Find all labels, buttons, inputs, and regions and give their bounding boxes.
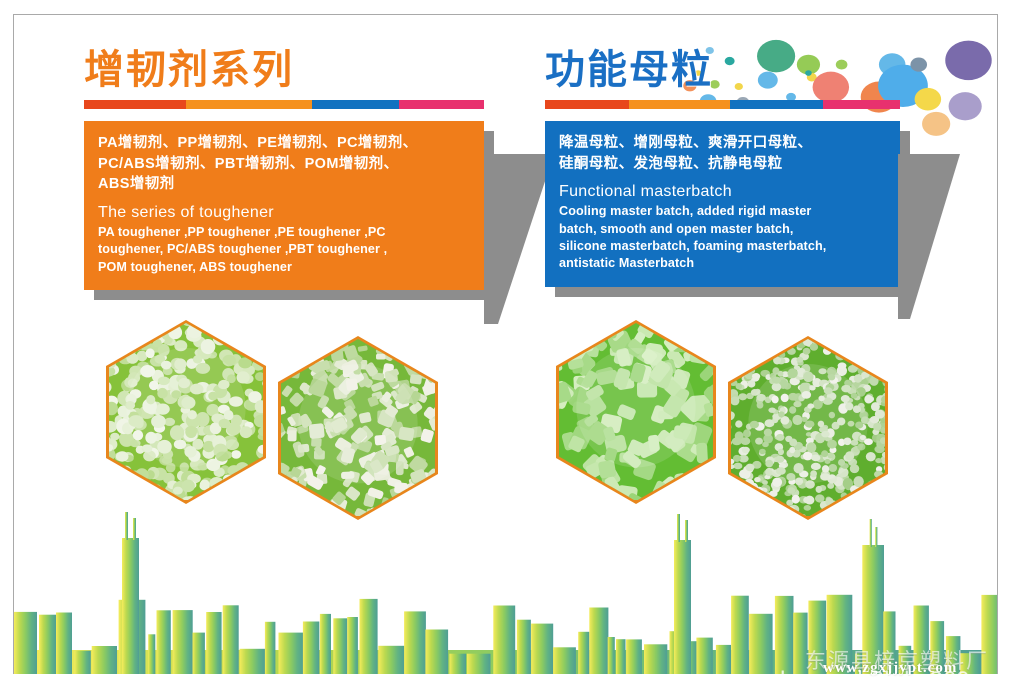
pellet <box>873 495 881 501</box>
pellet <box>752 344 762 353</box>
pellet <box>210 498 224 500</box>
pellet <box>128 330 138 337</box>
pellet <box>121 466 131 476</box>
pellet <box>418 365 429 376</box>
pellet <box>213 323 228 334</box>
pellet <box>173 487 183 495</box>
pellet <box>758 500 765 505</box>
pellet <box>116 499 126 500</box>
pellet <box>743 350 752 357</box>
pellet <box>132 325 141 334</box>
pellet <box>559 328 575 349</box>
pellet <box>109 326 116 339</box>
pellet <box>559 323 561 339</box>
pellet <box>610 323 630 324</box>
pellet <box>738 393 747 400</box>
pellet <box>737 349 747 359</box>
pellet <box>255 346 263 353</box>
pellet <box>833 339 840 346</box>
pellet <box>109 469 122 481</box>
pellet <box>767 499 777 507</box>
pellet <box>849 498 858 506</box>
pellet <box>222 323 235 331</box>
pellet <box>792 495 800 504</box>
pellet <box>740 437 750 445</box>
pellet <box>810 343 818 350</box>
pellet <box>223 486 234 494</box>
bubble-23 <box>922 112 950 136</box>
pellet <box>754 477 761 482</box>
pellet <box>231 450 241 459</box>
pellet <box>848 500 857 507</box>
pellet <box>296 339 312 352</box>
pellet <box>866 347 876 356</box>
toughener-cn-line-1: PA增韧剂、PP增韧剂、PE增韧剂、PC增韧剂、 <box>98 133 470 154</box>
pellet <box>881 351 885 359</box>
pellet <box>421 367 433 380</box>
pellet <box>236 323 251 333</box>
pellet <box>139 483 153 496</box>
pellet <box>116 451 129 461</box>
pellet <box>141 337 150 344</box>
pellet <box>217 323 232 327</box>
bubble-20 <box>915 88 942 111</box>
pellet <box>704 468 713 481</box>
pellet <box>827 483 834 489</box>
pellet <box>112 476 121 484</box>
pellet-photo-white-round <box>109 323 263 500</box>
pellet <box>752 499 759 506</box>
pellet <box>373 339 385 349</box>
pellet <box>861 372 870 378</box>
pellet <box>691 338 710 356</box>
pellet <box>140 492 149 499</box>
pellet <box>253 493 263 500</box>
pellet <box>248 485 263 499</box>
pellet-photo-white-granules <box>731 339 885 516</box>
pellet <box>731 498 741 508</box>
pellet <box>214 487 224 495</box>
pellet <box>187 324 202 338</box>
pellet <box>883 486 885 492</box>
pellet-photo-white-cylinders <box>281 339 435 516</box>
pellet <box>733 463 742 470</box>
pellet <box>209 491 221 499</box>
pellet-highlight <box>748 364 867 483</box>
pellet <box>876 360 882 366</box>
textbox-masterbatch: 降温母粒、增刚母粒、爽滑开口母粒、 硅酮母粒、发泡母粒、抗静电母粒 Functi… <box>545 121 900 287</box>
pellet <box>771 339 779 343</box>
pellet <box>230 490 239 498</box>
pellet <box>247 326 256 333</box>
pellet <box>410 374 423 385</box>
pellet <box>739 360 747 367</box>
pellet <box>872 339 878 343</box>
pellet <box>857 339 865 344</box>
pellet <box>314 339 328 349</box>
pellet <box>674 473 688 494</box>
pellet <box>854 374 863 382</box>
colorbar-toughener <box>84 100 484 109</box>
pellet <box>738 490 748 498</box>
masterbatch-en-line-2: batch, smooth and open master batch, <box>559 221 886 238</box>
pellet <box>691 496 712 500</box>
pellet <box>731 353 732 359</box>
pellet <box>779 352 786 358</box>
pellet <box>109 323 118 327</box>
pellet <box>781 339 789 346</box>
pellet <box>772 477 782 487</box>
pellet <box>661 491 682 500</box>
pellet <box>111 465 121 472</box>
pellet <box>237 488 249 497</box>
pellet <box>148 484 163 499</box>
hex-inner <box>109 323 263 501</box>
pellet <box>559 485 567 501</box>
pellet <box>736 479 746 486</box>
pellet <box>288 430 297 441</box>
pellet <box>883 340 885 347</box>
masterbatch-en-heading: Functional masterbatch <box>559 180 886 203</box>
pellet <box>764 342 771 349</box>
pellet <box>756 487 763 493</box>
pellet <box>731 370 735 375</box>
colorbar-seg-1 <box>84 100 186 109</box>
pellet <box>668 323 690 342</box>
pellet <box>251 348 263 359</box>
colorbar-seg-2 <box>186 100 312 109</box>
pellet <box>258 472 263 480</box>
hex-inner <box>731 339 885 517</box>
pellet <box>416 339 432 354</box>
pellet <box>736 345 746 355</box>
pellet <box>116 340 125 349</box>
pellet <box>250 497 259 500</box>
pellet <box>736 383 743 389</box>
pellet <box>749 339 759 343</box>
pellet <box>122 498 131 500</box>
pellet <box>659 323 676 339</box>
pellet <box>260 469 263 480</box>
pellet <box>875 458 882 463</box>
pellet <box>876 371 885 381</box>
pellet <box>816 486 823 493</box>
pellet <box>873 362 883 370</box>
pellet-highlight <box>126 348 245 467</box>
pellet <box>743 348 752 357</box>
pellet <box>648 499 666 501</box>
pellet <box>881 476 885 483</box>
toughener-en-heading: The series of toughener <box>98 201 470 224</box>
pellet <box>221 338 230 345</box>
pellet <box>699 466 713 480</box>
panel-title-toughener: 增韧剂系列 <box>84 50 484 90</box>
pellet <box>739 491 745 497</box>
pellet <box>209 477 223 489</box>
pellet <box>253 472 263 481</box>
pellet <box>225 483 235 492</box>
pellet <box>741 501 749 509</box>
pellet <box>757 492 767 499</box>
pellet <box>787 348 796 355</box>
pellet <box>132 323 145 327</box>
pellet <box>126 324 139 338</box>
pellet <box>116 348 125 358</box>
pellet <box>756 498 765 507</box>
pellet <box>749 488 757 494</box>
pellet <box>835 342 842 349</box>
pellet <box>134 334 145 345</box>
pellet <box>756 492 765 500</box>
pellet <box>742 447 750 453</box>
bubble-22 <box>949 92 982 120</box>
pellet <box>776 339 783 342</box>
pellet <box>420 368 432 377</box>
pellet <box>324 339 342 344</box>
pellet <box>869 487 876 492</box>
pellet <box>864 395 873 404</box>
pellet <box>735 499 742 506</box>
pellet <box>241 485 251 493</box>
pellet <box>109 464 114 476</box>
pellet <box>796 357 803 363</box>
pellet <box>260 329 263 341</box>
pellet <box>231 478 242 487</box>
masterbatch-en-line-3: silicone masterbatch, foaming masterbatc… <box>559 238 886 255</box>
pellet <box>769 490 777 496</box>
pellet <box>281 352 290 368</box>
pellet <box>152 331 161 338</box>
pellet <box>855 350 865 359</box>
pellet <box>686 477 697 495</box>
pellet <box>139 334 151 343</box>
pellet <box>126 323 137 325</box>
hex-image-toughener-1 <box>106 320 266 504</box>
pellet <box>690 487 709 500</box>
pellet <box>258 349 263 361</box>
pellet <box>774 341 782 348</box>
pellet <box>787 487 795 493</box>
pellet <box>258 484 263 496</box>
pellet <box>841 492 848 499</box>
pellet <box>884 349 885 357</box>
toughener-en-line-1: PA toughener ,PP toughener ,PE toughener… <box>98 224 470 241</box>
pellet <box>141 497 151 500</box>
pellet <box>779 339 789 341</box>
pellet <box>741 360 749 367</box>
pellet <box>883 358 885 366</box>
pellet <box>866 452 876 461</box>
pellet <box>192 323 203 326</box>
pellet <box>823 347 832 355</box>
pellet <box>559 455 560 475</box>
pellet <box>758 348 764 353</box>
pellet <box>287 354 298 367</box>
pellet <box>861 499 868 505</box>
pellet <box>238 357 252 368</box>
pellet <box>319 340 334 354</box>
pellet <box>773 356 781 364</box>
hex-image-masterbatch-1 <box>556 320 716 504</box>
pellet <box>227 465 240 476</box>
pellet <box>803 348 811 355</box>
pellet <box>244 471 258 483</box>
pellet <box>737 486 746 494</box>
pellet <box>881 344 885 350</box>
pellet <box>117 348 126 355</box>
pellet <box>419 482 431 495</box>
pellet <box>559 494 564 500</box>
panel-title-masterbatch: 功能母粒 <box>545 50 900 90</box>
pellet <box>235 339 249 351</box>
pellet <box>200 480 210 491</box>
pellet <box>867 480 876 489</box>
pellet <box>145 348 154 358</box>
pellet <box>874 471 883 478</box>
pellet <box>825 497 833 506</box>
pellet <box>231 487 245 499</box>
pellet <box>120 490 133 500</box>
pellet <box>140 498 149 500</box>
pellet <box>246 473 258 485</box>
pellet <box>803 497 812 504</box>
pellet <box>224 485 235 494</box>
pellet <box>252 489 263 500</box>
textbox-wrap-masterbatch: 降温母粒、增刚母粒、爽滑开口母粒、 硅酮母粒、发泡母粒、抗静电母粒 Functi… <box>545 121 900 287</box>
pellet <box>118 327 132 339</box>
masterbatch-en-line-4: antistatic Masterbatch <box>559 255 886 272</box>
pellet <box>262 341 263 349</box>
pellet <box>109 481 118 492</box>
pellet <box>424 354 435 370</box>
pellet <box>281 348 285 360</box>
watermark-b2b-domain: zhengsi.b2b.hc360.com <box>768 667 1011 689</box>
pellet <box>244 343 257 356</box>
toughener-en-line-2: toughener, PC/ABS toughener ,PBT toughen… <box>98 241 470 258</box>
pellet <box>731 357 734 367</box>
pellet <box>731 372 739 380</box>
pellet <box>109 355 113 365</box>
pellet <box>877 360 885 367</box>
colorbar-seg-2 <box>629 100 730 109</box>
pellet <box>655 493 674 500</box>
bubble-19 <box>910 58 927 72</box>
pellet <box>744 339 752 344</box>
pellet <box>701 484 713 500</box>
pellet <box>744 497 750 503</box>
pellet <box>833 340 841 349</box>
pellet <box>854 497 862 503</box>
pellet <box>559 493 564 500</box>
pellet <box>731 497 741 505</box>
pellet <box>867 497 875 505</box>
pellet <box>109 483 117 491</box>
pellet <box>249 491 258 499</box>
pellet <box>767 496 774 502</box>
pellet-photo-green-translucent <box>559 323 713 500</box>
pellet <box>732 437 742 445</box>
pellet <box>791 339 798 342</box>
pellet <box>182 480 195 492</box>
pellet <box>249 346 259 355</box>
pellet <box>109 497 112 500</box>
pellet <box>242 347 252 356</box>
pellet <box>688 323 707 343</box>
pellet <box>835 352 845 361</box>
pellet <box>739 492 749 502</box>
pellet <box>109 324 114 337</box>
pellet <box>109 323 117 328</box>
pellet-highlight <box>298 364 417 483</box>
pellet <box>576 500 593 501</box>
pellet <box>878 345 885 353</box>
pellet <box>121 335 135 347</box>
pellet <box>118 337 127 344</box>
pellet <box>139 323 153 334</box>
masterbatch-cn-line-2: 硅酮母粒、发泡母粒、抗静电母粒 <box>559 154 886 175</box>
pellet <box>378 339 390 341</box>
pellet <box>110 496 119 500</box>
pellet <box>232 323 246 326</box>
pellet <box>765 352 773 360</box>
pellet <box>200 492 213 500</box>
pellet <box>704 466 713 485</box>
pellet <box>731 474 732 479</box>
textbox-wrap-toughener: PA增韧剂、PP增韧剂、PE增韧剂、PC增韧剂、 PC/ABS增韧剂、PBT增韧… <box>84 121 484 290</box>
textbox-toughener: PA增韧剂、PP增韧剂、PE增韧剂、PC增韧剂、 PC/ABS增韧剂、PBT增韧… <box>84 121 484 290</box>
masterbatch-cn-line-1: 降温母粒、增刚母粒、爽滑开口母粒、 <box>559 133 886 154</box>
pellet <box>109 474 111 485</box>
pellet <box>873 422 881 430</box>
pellet <box>109 461 114 470</box>
pellet <box>213 332 227 346</box>
pellet <box>153 339 162 348</box>
pellet <box>872 350 882 360</box>
pellet <box>205 323 215 324</box>
colorbar-seg-3 <box>730 100 823 109</box>
pellet <box>852 347 862 356</box>
pellet <box>848 365 858 373</box>
pellet <box>238 484 251 496</box>
pellet <box>878 493 885 500</box>
pellet <box>168 326 182 340</box>
pellet <box>259 473 263 487</box>
pellet <box>869 376 878 385</box>
pellet <box>303 497 315 507</box>
pellet <box>227 485 236 492</box>
pellet <box>731 343 735 352</box>
pellet <box>733 488 742 496</box>
pellet <box>745 479 754 487</box>
pellet <box>135 323 149 325</box>
toughener-cn-line-2: PC/ABS增韧剂、PBT增韧剂、POM增韧剂、 <box>98 154 470 175</box>
pellet <box>131 486 146 498</box>
pellet <box>773 502 780 508</box>
pellet <box>420 339 435 344</box>
pellet <box>109 488 113 498</box>
pellet <box>138 487 149 498</box>
hex-inner <box>281 339 435 517</box>
pellet <box>839 500 845 506</box>
pellet <box>154 323 167 328</box>
pellet <box>223 474 234 483</box>
panel-toughener: 增韧剂系列 PA增韧剂、PP增韧剂、PE增韧剂、PC增韧剂、 PC/ABS增韧剂… <box>84 50 484 290</box>
colorbar-seg-4 <box>823 100 900 109</box>
pellet <box>245 484 260 499</box>
pellet <box>394 482 408 494</box>
pellet <box>376 354 385 360</box>
pellet <box>842 339 852 348</box>
